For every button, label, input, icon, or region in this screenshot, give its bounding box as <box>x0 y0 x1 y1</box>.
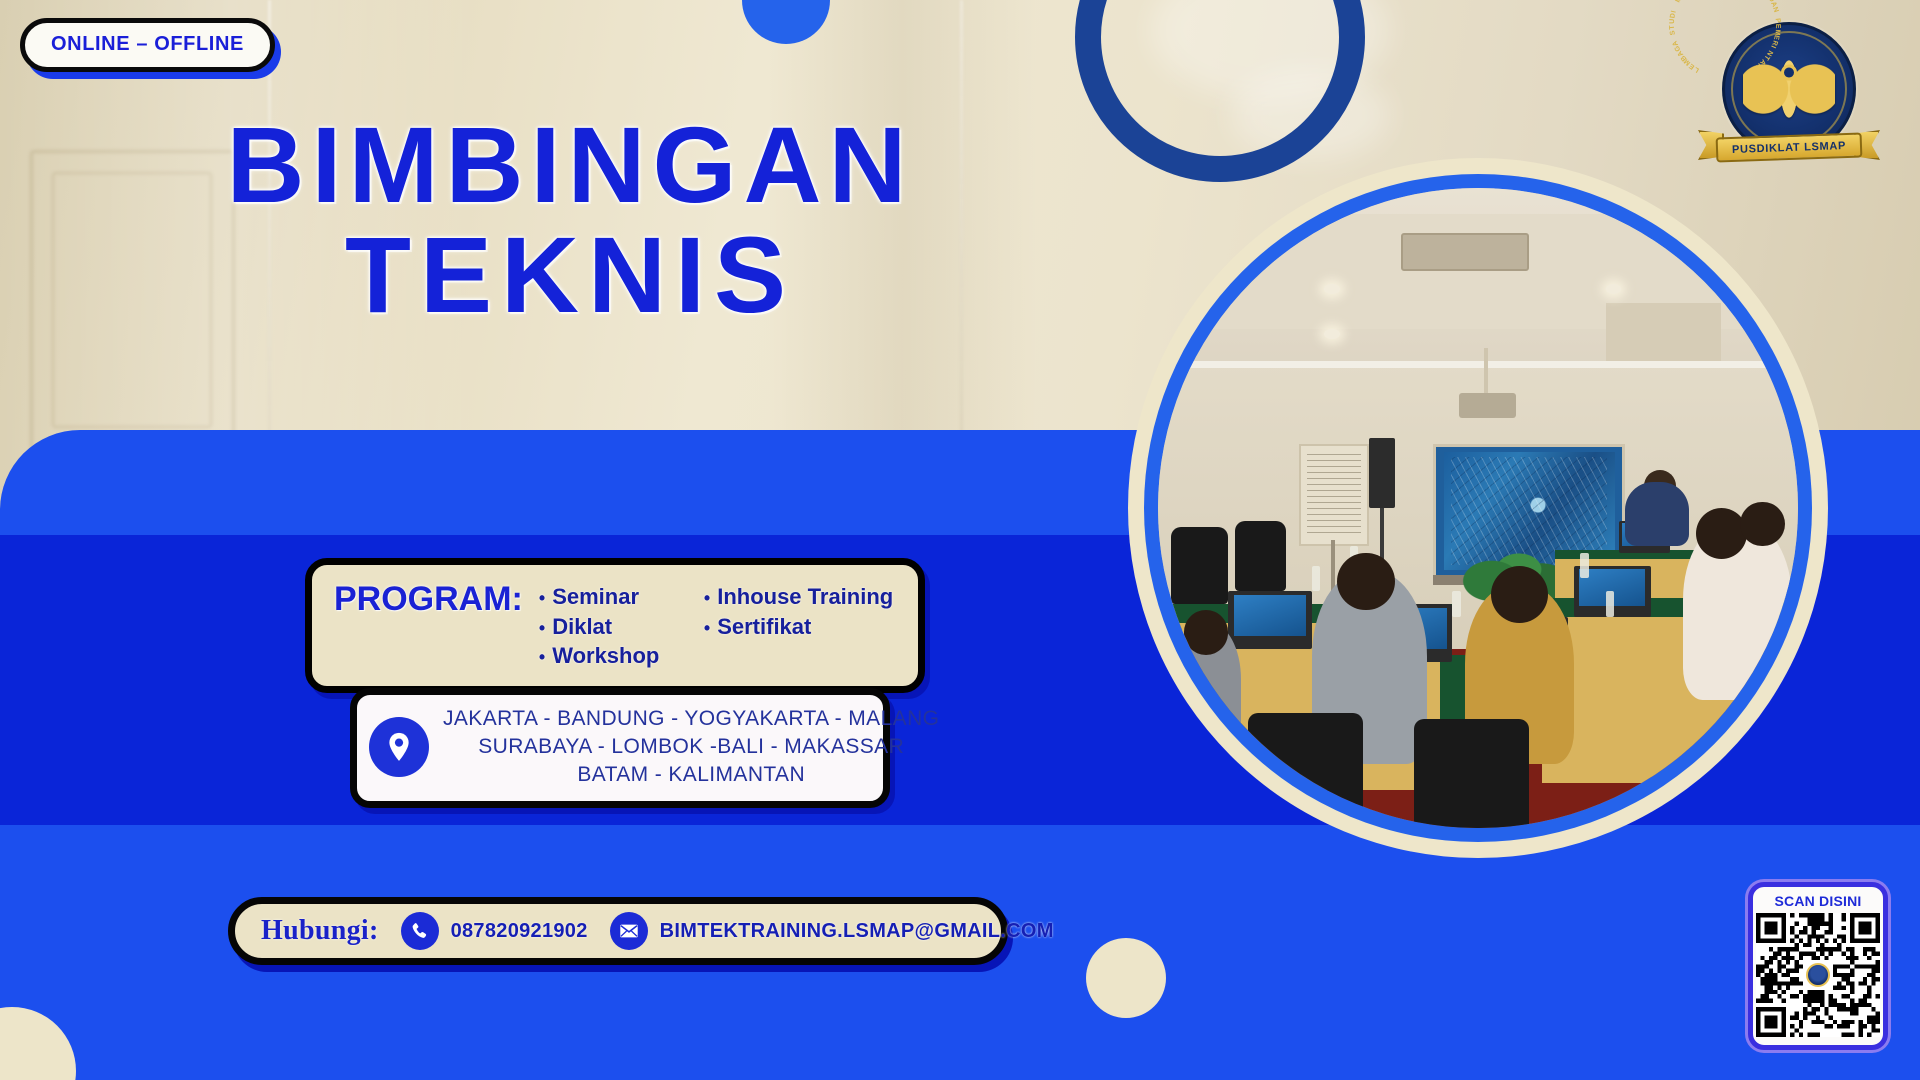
bullet-icon: • <box>539 618 545 638</box>
bullet-icon: • <box>704 618 710 638</box>
program-item-label: Seminar <box>552 584 639 609</box>
bullet-icon: • <box>539 588 545 608</box>
program-columns: •Seminar •Diklat •Workshop •Inhouse Trai… <box>539 579 934 670</box>
locations-line: SURABAYA - LOMBOK -BALI - MAKASSAR <box>443 733 939 761</box>
locations-list: JAKARTA - BANDUNG - YOGYAKARTA - MALANG … <box>443 705 939 789</box>
map-pin-icon <box>369 717 429 777</box>
program-box: PROGRAM: •Seminar •Diklat •Workshop •Inh… <box>305 558 925 693</box>
locations-box: JAKARTA - BANDUNG - YOGYAKARTA - MALANG … <box>350 688 890 808</box>
phone-number: 087820921902 <box>451 920 588 943</box>
program-item: •Seminar <box>539 583 694 611</box>
program-item-label: Sertifikat <box>717 614 811 639</box>
phone-icon <box>401 912 439 950</box>
program-item-label: Workshop <box>552 643 659 668</box>
photo-circle <box>1128 158 1828 858</box>
program-item-label: Inhouse Training <box>717 584 893 609</box>
bullet-icon: • <box>539 647 545 667</box>
title-line-2: TEKNIS <box>150 220 990 330</box>
qr-card[interactable]: SCAN DISINI <box>1748 882 1888 1050</box>
program-item: •Diklat <box>539 613 694 641</box>
program-column-1: •Seminar •Diklat •Workshop <box>539 583 694 670</box>
qr-center-logo-icon <box>1806 963 1830 987</box>
poster-title: BIMBINGAN TEKNIS <box>150 110 990 330</box>
contact-phone[interactable]: 087820921902 <box>401 912 588 950</box>
bullet-icon: • <box>704 588 710 608</box>
poster-canvas: ONLINE – OFFLINE BIMBINGAN TEKNIS PROGRA… <box>0 0 1920 1080</box>
logo-garuda-wings-icon <box>1743 52 1835 124</box>
online-offline-badge: ONLINE – OFFLINE <box>20 18 275 72</box>
decor-circle-cream-bottom-center <box>1086 938 1166 1018</box>
locations-line: JAKARTA - BANDUNG - YOGYAKARTA - MALANG <box>443 705 939 733</box>
training-room-photo <box>1158 188 1798 828</box>
ribbon-band: PUSDIKLAT LSMAP <box>1716 132 1863 162</box>
program-item: •Workshop <box>539 642 694 670</box>
program-item: •Inhouse Training <box>704 583 934 611</box>
program-label: PROGRAM: <box>334 579 523 618</box>
locations-line: BATAM - KALIMANTAN <box>443 761 939 789</box>
photo-ring-blue <box>1144 174 1812 842</box>
contact-label: Hubungi: <box>261 915 379 947</box>
lsmap-logo: LEMBAGA STUDI MANAJEMEN AKUNTANSI DAN PE… <box>1700 22 1878 174</box>
program-column-2: •Inhouse Training •Sertifikat <box>704 583 934 670</box>
program-item: •Sertifikat <box>704 613 934 641</box>
contact-bar: Hubungi: 087820921902 BIMTEKTRAINING.LSM… <box>228 897 1008 965</box>
logo-ribbon: PUSDIKLAT LSMAP <box>1700 126 1878 168</box>
email-address: BIMTEKTRAINING.LSMAP@GMAIL.COM <box>660 920 1054 943</box>
qr-title: SCAN DISINI <box>1775 893 1862 909</box>
program-item-label: Diklat <box>552 614 612 639</box>
title-line-1: BIMBINGAN <box>150 110 990 220</box>
contact-email[interactable]: BIMTEKTRAINING.LSMAP@GMAIL.COM <box>610 912 1054 950</box>
ribbon-label: PUSDIKLAT LSMAP <box>1732 140 1847 156</box>
qr-code-image <box>1756 913 1880 1037</box>
envelope-icon <box>610 912 648 950</box>
